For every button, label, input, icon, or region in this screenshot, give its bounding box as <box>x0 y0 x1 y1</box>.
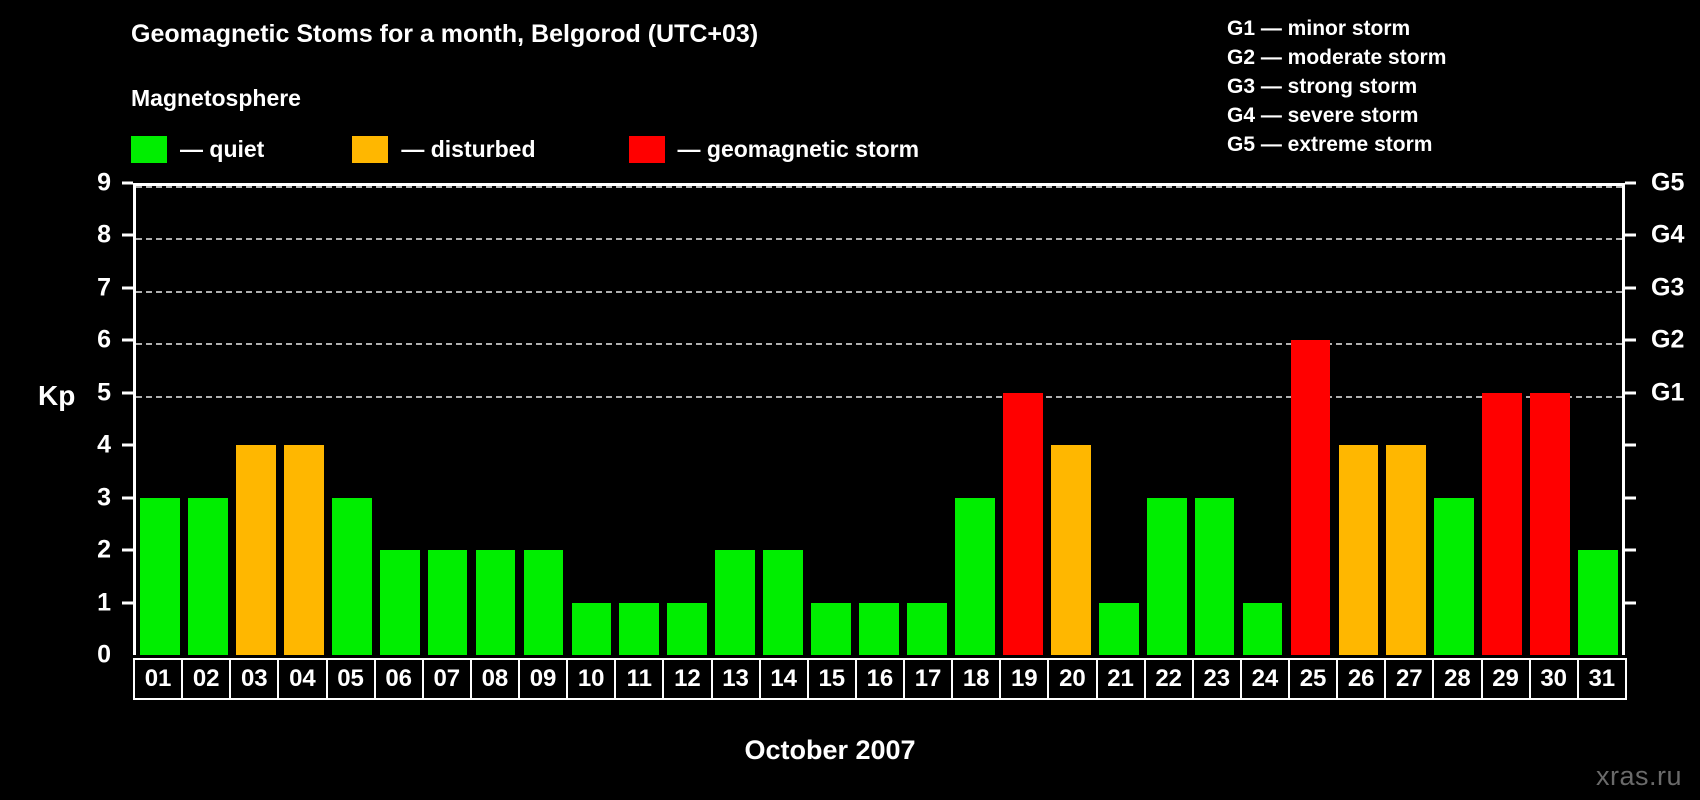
bar-day-22[interactable] <box>1147 498 1187 655</box>
bar-day-14[interactable] <box>763 550 803 655</box>
legend-item-geomagnetic-storm: — geomagnetic storm <box>629 135 920 163</box>
bar-slot-03[interactable] <box>232 186 280 655</box>
bar-day-10[interactable] <box>572 603 612 655</box>
bar-day-16[interactable] <box>859 603 899 655</box>
bar-slot-20[interactable] <box>1047 186 1095 655</box>
bar-slot-04[interactable] <box>280 186 328 655</box>
legend-item-disturbed: — disturbed <box>352 135 535 163</box>
g-axis-minor-tick-kp-1 <box>1625 601 1636 604</box>
x-axis-title-text: October 2007 <box>744 735 915 765</box>
bar-day-12[interactable] <box>667 603 707 655</box>
bar-day-29[interactable] <box>1482 393 1522 655</box>
day-label-20[interactable]: 20 <box>1047 658 1097 700</box>
g-axis-minor-tick-kp-4 <box>1625 444 1636 447</box>
bar-day-15[interactable] <box>811 603 851 655</box>
bar-day-23[interactable] <box>1195 498 1235 655</box>
legend-item-label: — geomagnetic storm <box>678 136 920 163</box>
g-scale-legend: G1 — minor stormG2 — moderate stormG3 — … <box>1227 14 1446 159</box>
kp-tick-mark-3 <box>122 496 133 499</box>
kp-tick-mark-4 <box>122 444 133 447</box>
orange-swatch-icon <box>352 136 388 163</box>
day-label-16[interactable]: 16 <box>855 658 905 700</box>
plot-inner <box>136 186 1622 655</box>
bar-day-11[interactable] <box>619 603 659 655</box>
day-label-29[interactable]: 29 <box>1481 658 1531 700</box>
day-label-19[interactable]: 19 <box>999 658 1049 700</box>
bar-day-01[interactable] <box>140 498 180 655</box>
g-tick-mark-g1 <box>1625 391 1636 394</box>
bar-day-27[interactable] <box>1386 445 1426 655</box>
day-label-08[interactable]: 08 <box>470 658 520 700</box>
day-label-21[interactable]: 21 <box>1096 658 1146 700</box>
bar-slot-11[interactable] <box>615 186 663 655</box>
plot-area <box>133 183 1625 655</box>
day-label-24[interactable]: 24 <box>1240 658 1290 700</box>
g-tick-mark-g5 <box>1625 182 1636 185</box>
day-label-28[interactable]: 28 <box>1432 658 1482 700</box>
bar-day-21[interactable] <box>1099 603 1139 655</box>
bar-day-03[interactable] <box>236 445 276 655</box>
day-label-05[interactable]: 05 <box>326 658 376 700</box>
day-label-07[interactable]: 07 <box>422 658 472 700</box>
day-label-09[interactable]: 09 <box>518 658 568 700</box>
g-tick-mark-g3 <box>1625 286 1636 289</box>
day-label-02[interactable]: 02 <box>181 658 231 700</box>
g-tick-label-g3: G3 <box>1651 275 1684 300</box>
kp-axis-title: Kp <box>38 380 75 412</box>
page-title: Geomagnetic Stoms for a month, Belgorod … <box>131 20 758 49</box>
day-label-15[interactable]: 15 <box>807 658 857 700</box>
day-label-30[interactable]: 30 <box>1529 658 1579 700</box>
bar-day-17[interactable] <box>907 603 947 655</box>
bar-day-20[interactable] <box>1051 445 1091 655</box>
kp-tick-label-1: 1 <box>97 590 111 615</box>
bar-slot-07[interactable] <box>424 186 472 655</box>
day-label-12[interactable]: 12 <box>662 658 712 700</box>
kp-tick-label-5: 5 <box>97 380 111 405</box>
g-tick-label-g2: G2 <box>1651 328 1684 353</box>
g-axis-minor-tick-kp-3 <box>1625 496 1636 499</box>
day-label-14[interactable]: 14 <box>759 658 809 700</box>
g-legend-item-g4: G4 — severe storm <box>1227 101 1446 130</box>
day-label-23[interactable]: 23 <box>1192 658 1242 700</box>
day-label-31[interactable]: 31 <box>1577 658 1627 700</box>
bar-slot-17[interactable] <box>903 186 951 655</box>
g-axis-minor-tick-kp-2 <box>1625 549 1636 552</box>
day-label-17[interactable]: 17 <box>903 658 953 700</box>
legend-item-label: — quiet <box>180 136 264 163</box>
kp-tick-label-0: 0 <box>97 643 111 668</box>
bar-slot-19[interactable] <box>999 186 1047 655</box>
legend-item-quiet: — quiet <box>131 135 264 163</box>
g-tick-mark-g2 <box>1625 339 1636 342</box>
bar-day-19[interactable] <box>1003 393 1043 655</box>
bar-day-07[interactable] <box>428 550 468 655</box>
g-legend-item-g1: G1 — minor storm <box>1227 14 1446 43</box>
bar-slot-12[interactable] <box>663 186 711 655</box>
bar-slot-30[interactable] <box>1526 186 1574 655</box>
bar-day-08[interactable] <box>476 550 516 655</box>
bar-slot-14[interactable] <box>759 186 807 655</box>
g-legend-item-g2: G2 — moderate storm <box>1227 43 1446 72</box>
kp-tick-label-6: 6 <box>97 328 111 353</box>
bar-day-02[interactable] <box>188 498 228 655</box>
bar-slot-26[interactable] <box>1334 186 1382 655</box>
bar-slot-22[interactable] <box>1143 186 1191 655</box>
bar-slot-16[interactable] <box>855 186 903 655</box>
g-legend-item-g3: G3 — strong storm <box>1227 72 1446 101</box>
day-label-26[interactable]: 26 <box>1336 658 1386 700</box>
bar-slot-18[interactable] <box>951 186 999 655</box>
legend-item-label: — disturbed <box>401 136 535 163</box>
g-tick-label-g4: G4 <box>1651 223 1684 248</box>
day-label-25[interactable]: 25 <box>1288 658 1338 700</box>
bar-day-26[interactable] <box>1339 445 1379 655</box>
chart-page: Geomagnetic Stoms for a month, Belgorod … <box>0 0 1700 800</box>
day-label-13[interactable]: 13 <box>711 658 761 700</box>
day-label-06[interactable]: 06 <box>374 658 424 700</box>
g-tick-mark-g4 <box>1625 234 1636 237</box>
bar-day-25[interactable] <box>1291 340 1331 655</box>
bar-slot-27[interactable] <box>1382 186 1430 655</box>
kp-tick-mark-6 <box>122 339 133 342</box>
g-legend-item-g5: G5 — extreme storm <box>1227 130 1446 159</box>
bar-day-09[interactable] <box>524 550 564 655</box>
red-swatch-icon <box>629 136 665 163</box>
bar-day-06[interactable] <box>380 550 420 655</box>
green-swatch-icon <box>131 136 167 163</box>
x-axis-title: October 2007 <box>0 735 1700 766</box>
bar-slot-05[interactable] <box>328 186 376 655</box>
bar-day-18[interactable] <box>955 498 995 655</box>
bar-slot-28[interactable] <box>1430 186 1478 655</box>
bar-slot-23[interactable] <box>1191 186 1239 655</box>
bar-slot-29[interactable] <box>1478 186 1526 655</box>
day-labels-row: 0102030405060708091011121314151617181920… <box>133 658 1625 700</box>
g-tick-label-g5: G5 <box>1651 171 1684 196</box>
bar-slot-06[interactable] <box>376 186 424 655</box>
kp-tick-label-8: 8 <box>97 223 111 248</box>
day-label-27[interactable]: 27 <box>1384 658 1434 700</box>
kp-tick-mark-7 <box>122 286 133 289</box>
bar-slot-24[interactable] <box>1239 186 1287 655</box>
kp-tick-mark-2 <box>122 549 133 552</box>
kp-tick-mark-9 <box>122 182 133 185</box>
kp-tick-mark-8 <box>122 234 133 237</box>
bar-slot-25[interactable] <box>1287 186 1335 655</box>
g-tick-label-g1: G1 <box>1651 380 1684 405</box>
bar-day-13[interactable] <box>715 550 755 655</box>
bar-slot-09[interactable] <box>520 186 568 655</box>
bar-day-04[interactable] <box>284 445 324 655</box>
bar-day-24[interactable] <box>1243 603 1283 655</box>
g-scale-axis: G1G2G3G4G5 <box>1625 183 1700 655</box>
bars-layer <box>136 186 1622 655</box>
day-label-10[interactable]: 10 <box>566 658 616 700</box>
bar-slot-15[interactable] <box>807 186 855 655</box>
bar-slot-21[interactable] <box>1095 186 1143 655</box>
bar-day-31[interactable] <box>1578 550 1618 655</box>
legend-heading: Magnetosphere <box>131 85 301 112</box>
bar-slot-10[interactable] <box>567 186 615 655</box>
kp-tick-label-7: 7 <box>97 275 111 300</box>
day-label-18[interactable]: 18 <box>951 658 1001 700</box>
day-label-04[interactable]: 04 <box>277 658 327 700</box>
bar-slot-02[interactable] <box>184 186 232 655</box>
bar-slot-01[interactable] <box>136 186 184 655</box>
kp-tick-label-4: 4 <box>97 433 111 458</box>
bar-day-28[interactable] <box>1434 498 1474 655</box>
day-label-11[interactable]: 11 <box>614 658 664 700</box>
kp-axis: 0123456789 <box>60 183 133 655</box>
bar-day-05[interactable] <box>332 498 372 655</box>
day-label-03[interactable]: 03 <box>229 658 279 700</box>
day-label-22[interactable]: 22 <box>1144 658 1194 700</box>
kp-tick-mark-1 <box>122 601 133 604</box>
watermark: xras.ru <box>1596 761 1682 792</box>
kp-tick-label-9: 9 <box>97 171 111 196</box>
day-label-01[interactable]: 01 <box>133 658 183 700</box>
kp-tick-mark-5 <box>122 391 133 394</box>
bar-slot-31[interactable] <box>1574 186 1622 655</box>
bar-slot-08[interactable] <box>472 186 520 655</box>
magnetosphere-legend: — quiet— disturbed— geomagnetic storm <box>131 135 919 163</box>
kp-tick-label-3: 3 <box>97 485 111 510</box>
bar-day-30[interactable] <box>1530 393 1570 655</box>
bar-slot-13[interactable] <box>711 186 759 655</box>
kp-tick-label-2: 2 <box>97 538 111 563</box>
